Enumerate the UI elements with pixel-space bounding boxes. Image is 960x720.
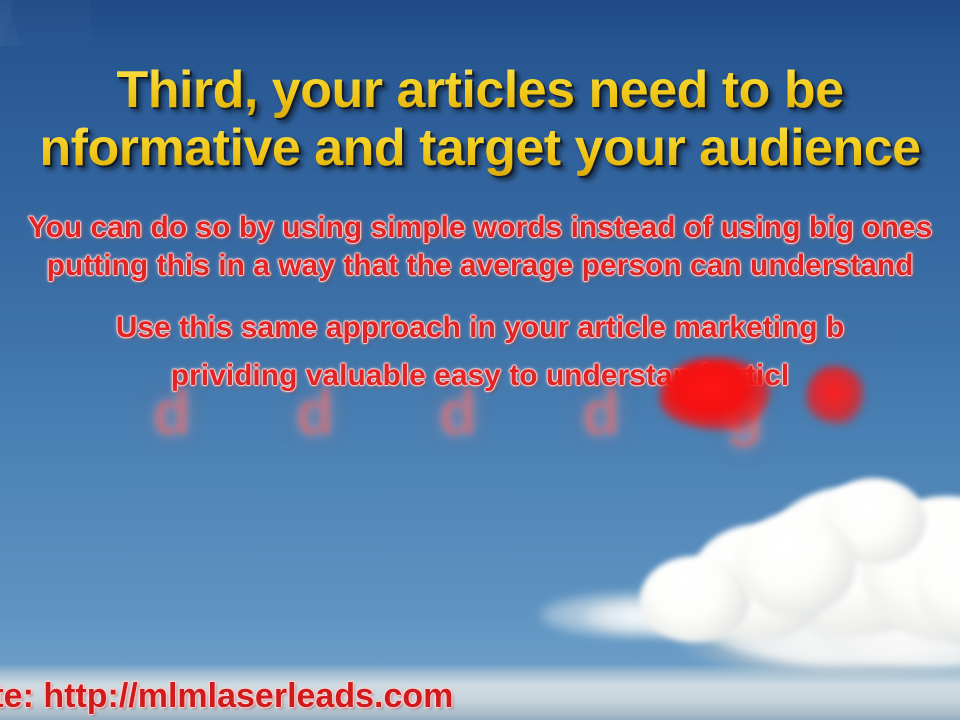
headline-line-1: Third, your articles need to be bbox=[0, 60, 960, 120]
video-frame: Third, your articles need to be nformati… bbox=[0, 0, 960, 720]
paragraph-2-line-1: Use this same approach in your article m… bbox=[0, 310, 960, 346]
paragraph-1-line-2: putting this in a way that the average p… bbox=[0, 248, 960, 284]
headline-line-2: nformative and target your audience bbox=[0, 118, 960, 178]
paragraph-1-line-1: You can do so by using simple words inst… bbox=[0, 210, 960, 246]
paragraph-2-line-2: prividing valuable easy to understand ar… bbox=[0, 358, 960, 394]
footer-website-url: site: http://mlmlaserleads.com bbox=[0, 676, 924, 716]
